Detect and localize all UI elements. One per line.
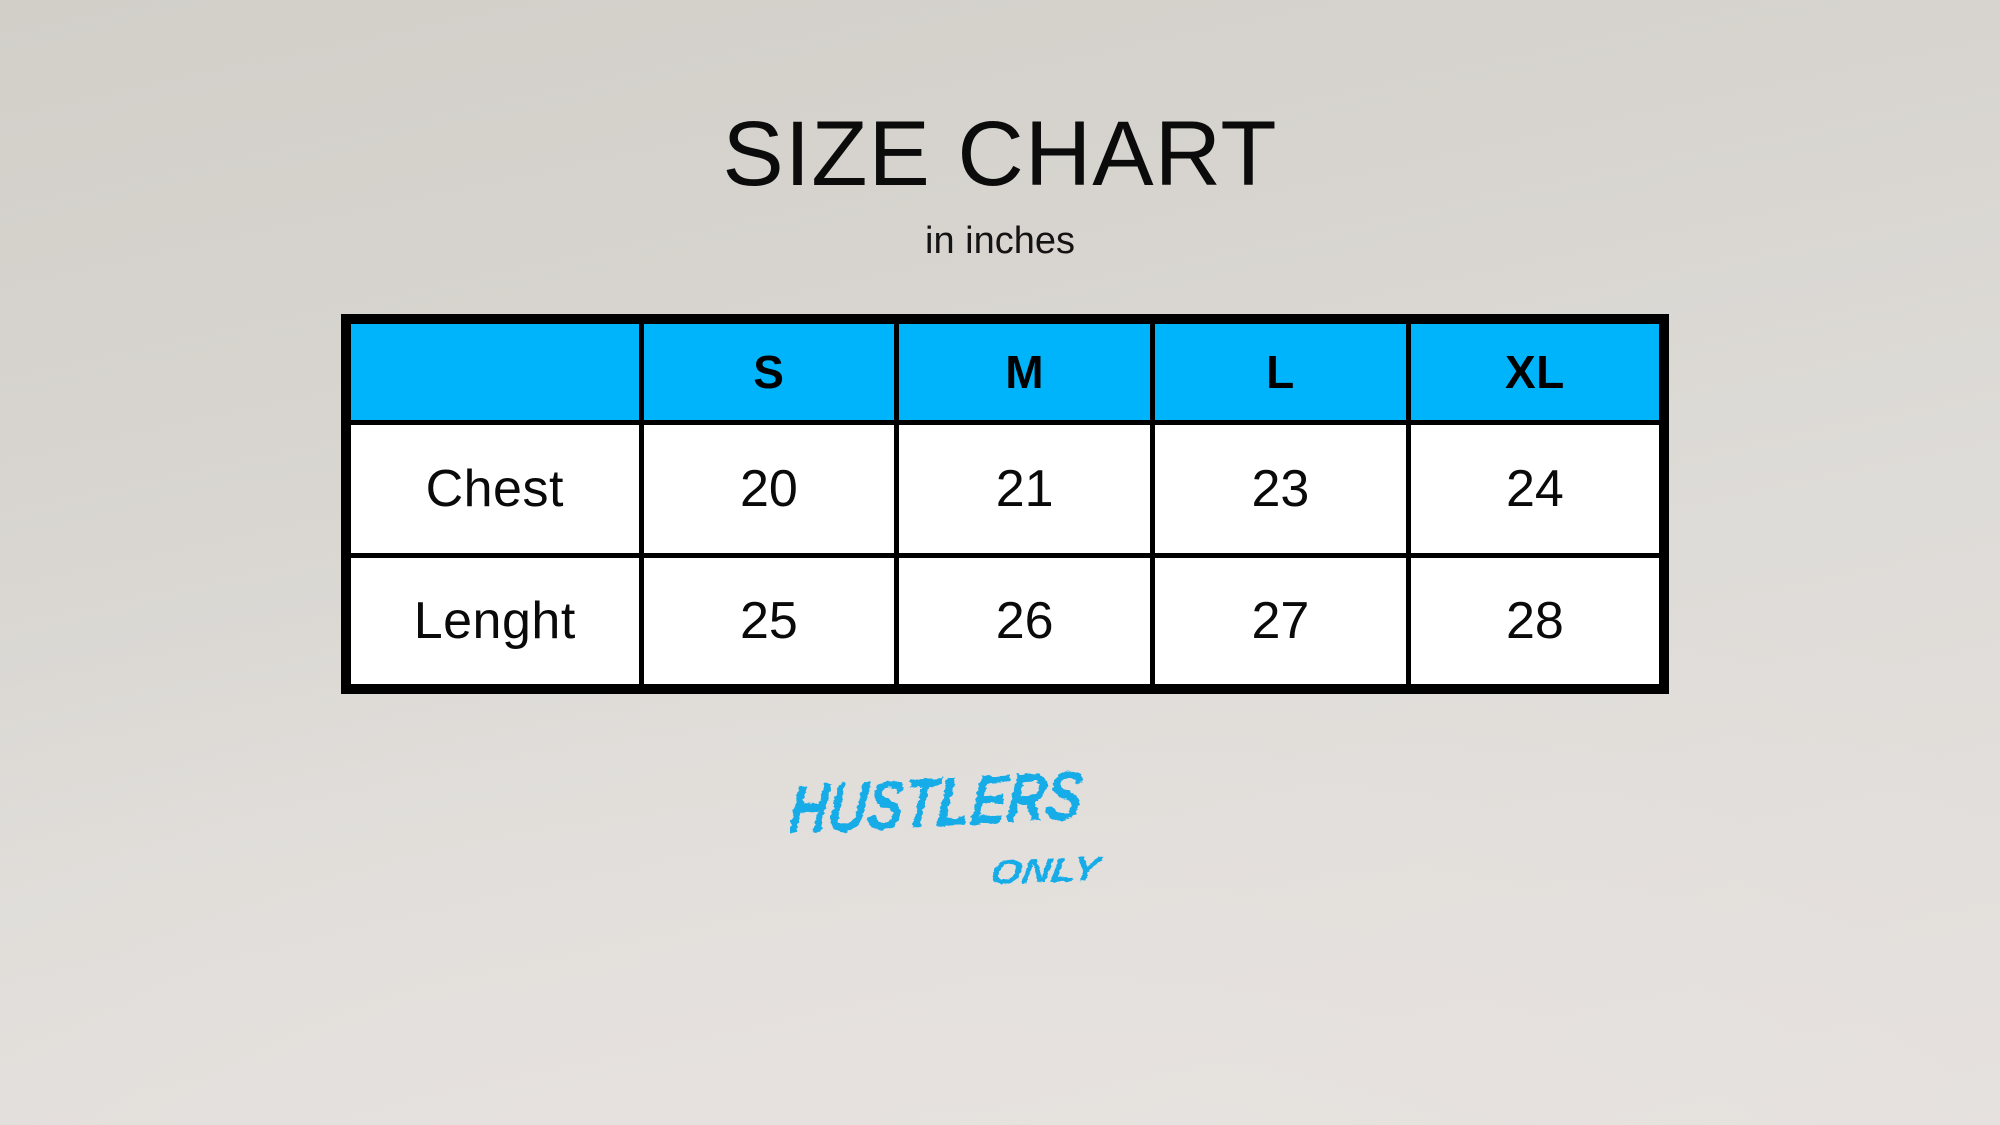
column-header-s: S <box>641 319 897 423</box>
column-header-m: M <box>897 319 1153 423</box>
cell-lenght-l: 27 <box>1153 556 1409 689</box>
row-label-chest: Chest <box>346 423 641 556</box>
logo-hustlers-label: HUSTLERS <box>790 756 1086 849</box>
cell-chest-xl: 24 <box>1408 423 1664 556</box>
logo-primary-text: HUSTLERS <box>790 756 1086 849</box>
cell-chest-m: 21 <box>897 423 1153 556</box>
hustlers-only-logo-icon: HUSTLERS ONLY <box>790 756 1210 906</box>
table-row: Lenght 25 26 27 28 <box>346 556 1664 689</box>
logo-secondary-text: ONLY <box>988 850 1106 892</box>
column-header-l: L <box>1153 319 1409 423</box>
cell-chest-s: 20 <box>641 423 897 556</box>
page-subtitle: in inches <box>722 222 1277 260</box>
table-body: Chest 20 21 23 24 Lenght 25 26 27 28 <box>346 423 1664 689</box>
table-head: S M L XL <box>346 319 1664 423</box>
size-chart-page: SIZE CHART in inches S M L XL <box>0 0 2000 1125</box>
table-header-row: S M L XL <box>346 319 1664 423</box>
title-block: SIZE CHART in inches <box>722 108 1277 260</box>
page-title: SIZE CHART <box>722 108 1277 200</box>
cell-chest-l: 23 <box>1153 423 1409 556</box>
cell-lenght-xl: 28 <box>1408 556 1664 689</box>
brand-logo: HUSTLERS ONLY <box>790 756 1210 906</box>
row-label-lenght: Lenght <box>346 556 641 689</box>
size-chart-table: S M L XL Chest 20 21 23 24 Lenght 25 26 <box>341 314 1669 694</box>
table-row: Chest 20 21 23 24 <box>346 423 1664 556</box>
logo-only-label: ONLY <box>988 850 1106 892</box>
cell-lenght-s: 25 <box>641 556 897 689</box>
table-corner-cell <box>346 319 641 423</box>
size-table-container: S M L XL Chest 20 21 23 24 Lenght 25 26 <box>341 314 1659 694</box>
cell-lenght-m: 26 <box>897 556 1153 689</box>
column-header-xl: XL <box>1408 319 1664 423</box>
